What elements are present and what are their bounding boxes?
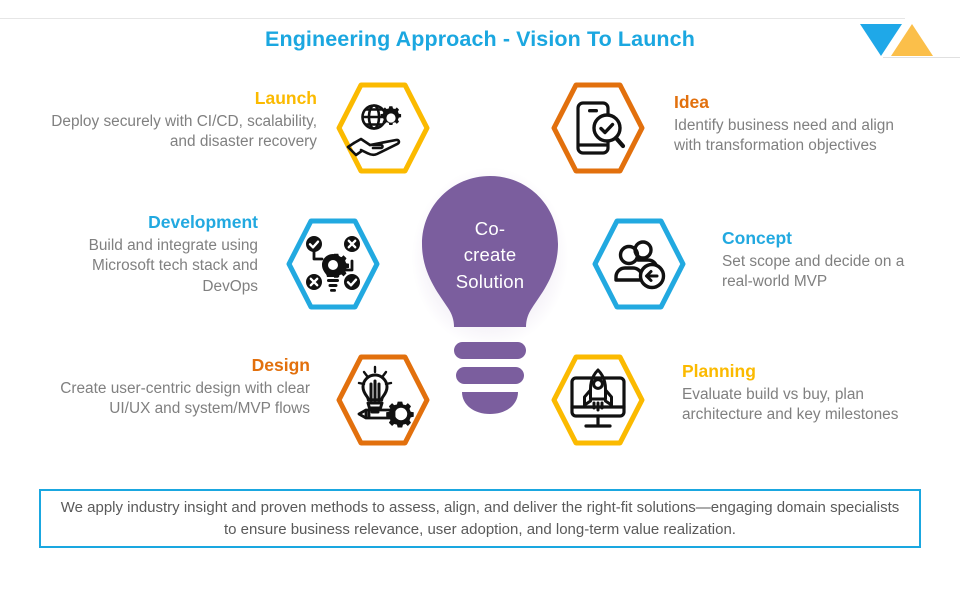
step-text-design: Design Create user-centric design with c…: [58, 355, 310, 420]
brand-logo: [858, 20, 933, 60]
page-title: Engineering Approach - Vision To Launch: [0, 27, 960, 52]
center-lightbulb: Co- create Solution: [398, 158, 582, 420]
step-desc-development: Build and integrate using Microsoft tech…: [48, 236, 258, 297]
step-title-idea: Idea: [674, 92, 914, 114]
step-text-idea: Idea Identify business need and align wi…: [674, 92, 914, 157]
step-desc-idea: Identify business need and align with tr…: [674, 116, 914, 157]
step-text-launch: Launch Deploy securely with CI/CD, scala…: [45, 88, 317, 153]
triangle-up-icon: [891, 24, 933, 56]
step-text-concept: Concept Set scope and decide on a real-w…: [722, 228, 922, 293]
users-arrow-icon: [589, 214, 689, 314]
summary-banner: We apply industry insight and proven met…: [39, 489, 921, 548]
step-hexagon-development[interactable]: [283, 214, 383, 314]
lightbulb-icon: [398, 158, 582, 420]
step-text-planning: Planning Evaluate build vs buy, plan arc…: [682, 361, 914, 426]
step-title-planning: Planning: [682, 361, 914, 383]
step-title-launch: Launch: [45, 88, 317, 110]
step-text-development: Development Build and integrate using Mi…: [48, 212, 258, 297]
step-title-concept: Concept: [722, 228, 922, 250]
step-desc-launch: Deploy securely with CI/CD, scalability,…: [45, 112, 317, 153]
slide-canvas: Engineering Approach - Vision To Launch …: [0, 0, 960, 600]
header-divider-top: [0, 18, 905, 19]
step-title-design: Design: [58, 355, 310, 377]
bulb-gear-checks-icon: [283, 214, 383, 314]
step-desc-design: Create user-centric design with clear UI…: [58, 379, 310, 420]
step-title-development: Development: [48, 212, 258, 234]
step-desc-concept: Set scope and decide on a real-world MVP: [722, 252, 922, 293]
step-hexagon-concept[interactable]: [589, 214, 689, 314]
summary-banner-text: We apply industry insight and proven met…: [41, 497, 919, 541]
step-desc-planning: Evaluate build vs buy, plan architecture…: [682, 385, 914, 426]
